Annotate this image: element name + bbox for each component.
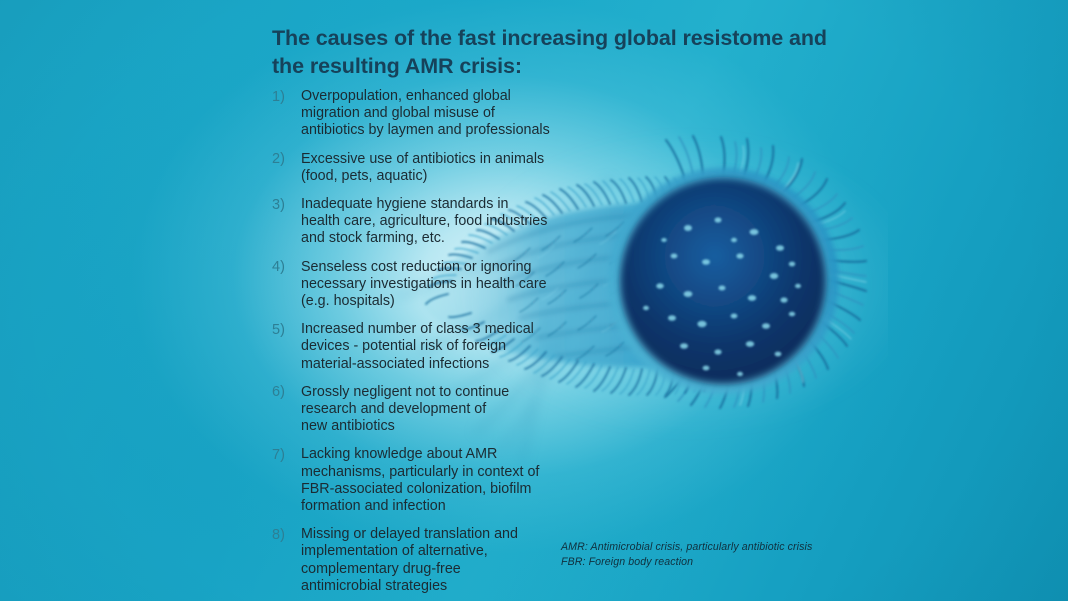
list-item-number: 5)	[272, 321, 301, 339]
list-item: 6) Grossly negligent not to continue res…	[272, 384, 572, 436]
list-item-text: Grossly negligent not to continue resear…	[301, 384, 509, 436]
page-title: The causes of the fast increasing global…	[272, 24, 832, 81]
list-item: 4) Senseless cost reduction or ignoring …	[272, 259, 572, 311]
list-item-text: Inadequate hygiene standards in health c…	[301, 196, 547, 248]
list-item: 5) Increased number of class 3 medical d…	[272, 321, 572, 373]
list-item-number: 8)	[272, 526, 301, 544]
list-item: 8) Missing or delayed translation and im…	[272, 526, 572, 595]
list-item-text: Missing or delayed translation and imple…	[301, 526, 518, 595]
list-item-number: 2)	[272, 151, 301, 169]
list-item-text: Increased number of class 3 medical devi…	[301, 321, 534, 373]
list-item-number: 6)	[272, 384, 301, 402]
causes-list: 1) Overpopulation, enhanced global migra…	[272, 88, 572, 601]
abbreviation-legend: AMR: Antimicrobial crisis, particularly …	[561, 540, 812, 570]
list-item: 7) Lacking knowledge about AMR mechanism…	[272, 446, 572, 515]
list-item-number: 3)	[272, 196, 301, 214]
list-item: 1) Overpopulation, enhanced global migra…	[272, 88, 572, 140]
list-item-number: 7)	[272, 446, 301, 464]
list-item-number: 1)	[272, 88, 301, 106]
list-item: 3) Inadequate hygiene standards in healt…	[272, 196, 572, 248]
list-item: 2) Excessive use of antibiotics in anima…	[272, 151, 572, 185]
list-item-text: Overpopulation, enhanced global migratio…	[301, 88, 550, 140]
list-item-text: Senseless cost reduction or ignoring nec…	[301, 259, 547, 311]
list-item-text: Excessive use of antibiotics in animals …	[301, 151, 544, 185]
slide-canvas: The causes of the fast increasing global…	[0, 0, 1068, 601]
list-item-text: Lacking knowledge about AMR mechanisms, …	[301, 446, 539, 515]
list-item-number: 4)	[272, 259, 301, 277]
